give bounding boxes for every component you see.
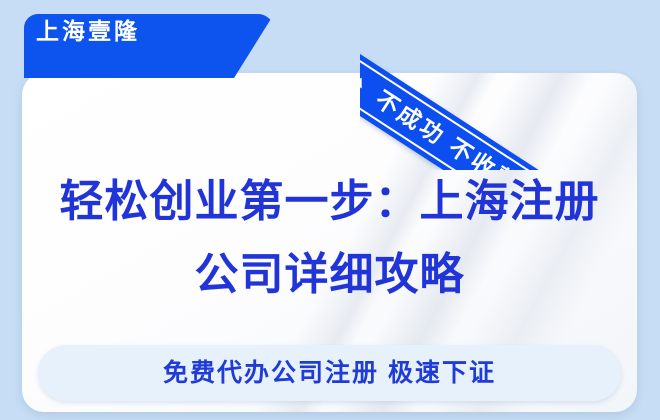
cta-label: 免费代办公司注册 极速下证 [38, 345, 621, 401]
brand-tab-label: 上海壹隆 [36, 16, 140, 46]
headline: 轻松创业第一步：上海注册 公司详细攻略 [22, 165, 637, 311]
poster-canvas: 上海壹隆 轻松创业第一步：上海注册 公司详细攻略 免费代办公司注册 极速下证 不… [0, 0, 660, 420]
headline-line-2: 公司详细攻略 [22, 238, 637, 311]
cta-bar[interactable]: 免费代办公司注册 极速下证 [38, 345, 621, 401]
main-card: 轻松创业第一步：上海注册 公司详细攻略 免费代办公司注册 极速下证 [22, 73, 637, 412]
headline-line-1: 轻松创业第一步：上海注册 [22, 165, 637, 238]
